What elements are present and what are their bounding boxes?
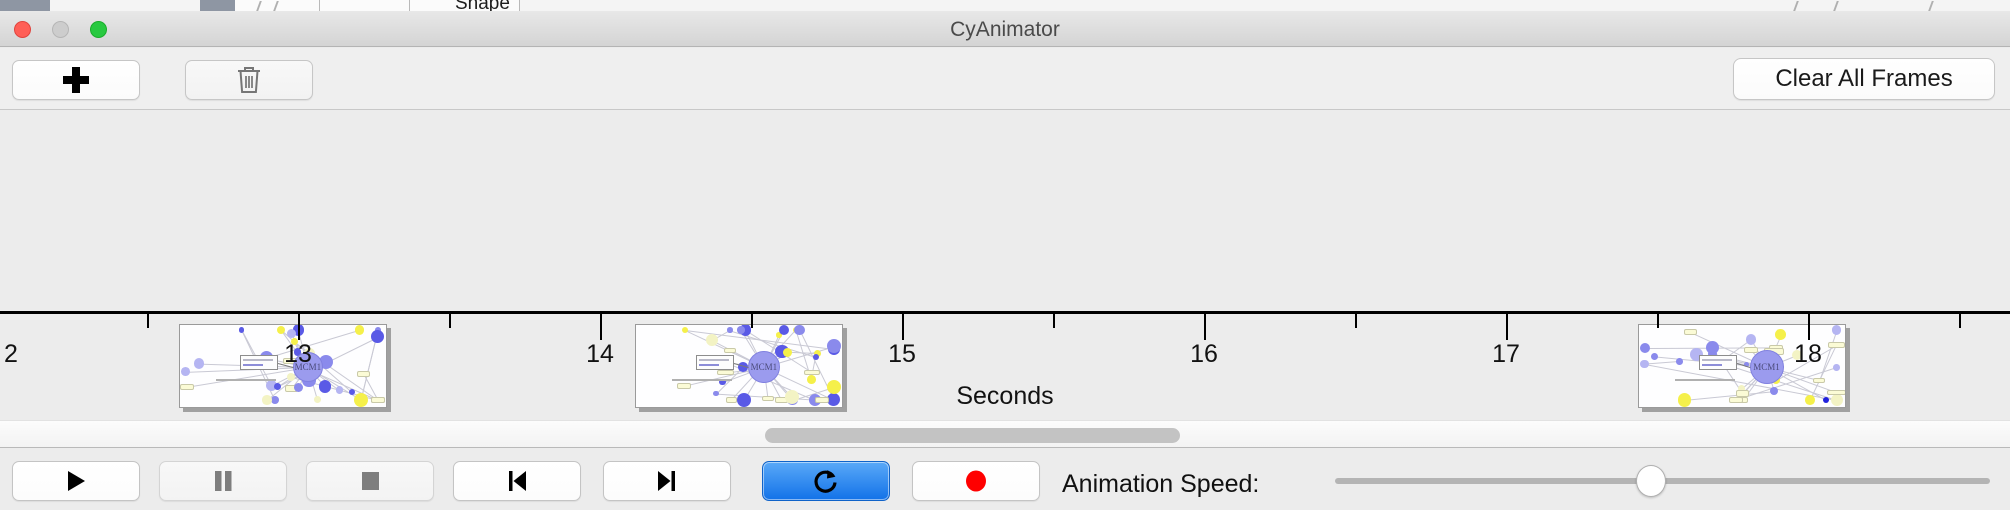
axis-tick-minor [147, 314, 149, 328]
network-node [287, 329, 296, 338]
background-window-label: Shape [455, 0, 510, 11]
axis-tick-minor [1657, 314, 1659, 328]
delete-frame-button[interactable] [185, 60, 313, 100]
record-button[interactable] [912, 461, 1040, 501]
network-hub-node: MCM1 [748, 351, 780, 383]
skip-to-end-button[interactable] [603, 461, 731, 501]
network-node-label [1744, 347, 1758, 353]
network-hub-node: MCM1 [1750, 350, 1784, 384]
timeline-panel[interactable]: MCM1MCM1MCM1 [0, 111, 2010, 421]
toolbar: Clear All Frames [0, 48, 2010, 110]
trash-icon [236, 65, 262, 95]
axis-tick-label: 17 [1492, 340, 1520, 369]
network-node [181, 367, 190, 376]
network-node-label [357, 371, 370, 377]
record-icon [963, 468, 989, 494]
callout-text-line [699, 359, 729, 361]
window-title: CyAnimator [0, 18, 2010, 42]
cyanimator-window: Shape CyAnimator Clear All Frames MCM1MC… [0, 0, 2010, 510]
network-callout [1699, 355, 1737, 370]
network-node [1775, 329, 1786, 340]
callout-text-line [1702, 359, 1732, 361]
animation-speed-slider-thumb[interactable] [1636, 465, 1666, 497]
axis-tick-label: 15 [888, 340, 916, 369]
network-node [737, 326, 744, 333]
axis-tick-minor [1355, 314, 1357, 328]
loop-icon [812, 467, 840, 495]
title-bar[interactable]: CyAnimator [0, 11, 2010, 47]
skip-to-start-button[interactable] [453, 461, 581, 501]
network-node-label [1828, 342, 1844, 348]
callout-caption-line [672, 379, 732, 381]
network-node [1640, 360, 1649, 369]
timeline-axis [0, 311, 2010, 314]
network-node-label [724, 348, 736, 353]
axis-tick-minor [449, 314, 451, 328]
background-window: Shape [0, 0, 2010, 11]
clear-all-frames-button[interactable]: Clear All Frames [1733, 58, 1995, 100]
network-node [794, 325, 805, 336]
network-node [194, 358, 204, 368]
network-node [1640, 343, 1650, 353]
skip-forward-icon [654, 468, 680, 494]
callout-text-line [243, 359, 273, 361]
stop-icon [358, 468, 382, 494]
axis-tick-major [600, 314, 602, 340]
axis-tick-minor [751, 314, 753, 328]
callout-caption-line [1675, 379, 1735, 381]
network-node [727, 327, 732, 332]
network-node [1651, 353, 1658, 360]
network-node [813, 354, 819, 360]
stop-button[interactable] [306, 461, 434, 501]
axis-tick-major [1808, 314, 1810, 340]
network-node [371, 330, 384, 343]
network-node-label [717, 370, 734, 375]
animation-speed-label: Animation Speed: [1062, 470, 1259, 499]
callout-text-line [699, 364, 719, 366]
network-callout [696, 355, 734, 370]
play-icon [63, 468, 89, 494]
axis-tick-minor [1053, 314, 1055, 328]
network-node [1746, 334, 1757, 345]
network-node [783, 348, 792, 357]
pause-icon [211, 468, 235, 494]
axis-title: Seconds [0, 382, 2010, 411]
callout-text-line [1702, 364, 1722, 366]
plus-icon [63, 67, 89, 93]
axis-tick-minor [1959, 314, 1961, 328]
play-button[interactable] [12, 461, 140, 501]
axis-tick-label: 2 [4, 340, 18, 369]
axis-tick-major [298, 314, 300, 340]
axis-tick-label: 14 [586, 340, 614, 369]
network-node [779, 325, 789, 335]
axis-tick-label: 13 [284, 340, 312, 369]
axis-tick-major [1204, 314, 1206, 340]
network-node [239, 327, 244, 332]
loop-button[interactable] [762, 461, 890, 501]
network-node [355, 325, 365, 335]
skip-back-icon [504, 468, 530, 494]
network-node [1833, 364, 1840, 371]
axis-tick-label: 18 [1794, 340, 1822, 369]
network-callout [240, 355, 278, 370]
network-node [1832, 325, 1842, 335]
axis-tick-major [1506, 314, 1508, 340]
timeline-scrollbar[interactable] [0, 420, 2010, 448]
network-node [1676, 358, 1683, 365]
network-node-label [804, 370, 820, 375]
pause-button[interactable] [159, 461, 287, 501]
add-frame-button[interactable] [12, 60, 140, 100]
callout-text-line [243, 364, 263, 366]
axis-tick-major [902, 314, 904, 340]
axis-tick-label: 16 [1190, 340, 1218, 369]
network-node-label [1684, 329, 1697, 335]
scrollbar-thumb[interactable] [765, 428, 1180, 443]
callout-caption-line [216, 379, 276, 381]
clear-all-frames-label: Clear All Frames [1775, 65, 1952, 93]
